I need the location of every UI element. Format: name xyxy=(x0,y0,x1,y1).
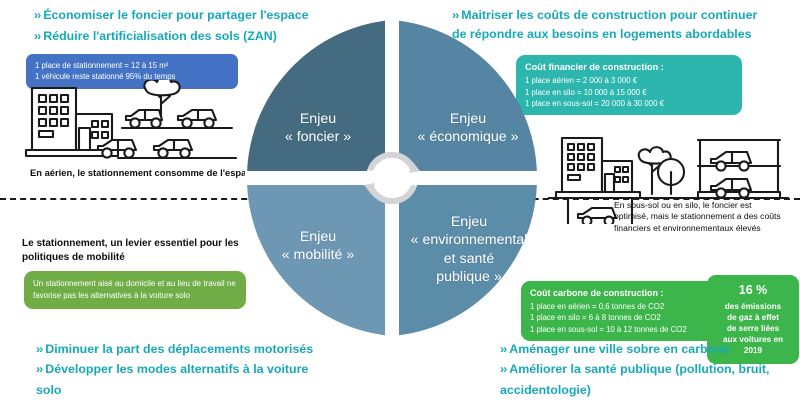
edge-watermark xyxy=(788,315,797,401)
quadrant-label-foncier: Enjeu « foncier » xyxy=(252,110,384,147)
callout-line-3: 1 place en sous-sol = 10 à 12 tonnes de … xyxy=(530,324,710,335)
callout-green-policy: Un stationnement aisé au domicile et au … xyxy=(24,271,246,309)
callout-line-1: 1 place de stationnement = 12 à 15 m² xyxy=(35,60,229,71)
emissions-percent-value: 16 % xyxy=(713,282,793,299)
quadrant-label-line-2: « économique » xyxy=(398,128,538,146)
chevron-double-right-icon: ›› xyxy=(500,342,506,356)
quadrant-economique xyxy=(392,20,537,178)
callout-line-2: 1 place en silo = 10 000 à 15 000 € xyxy=(525,87,733,98)
quadrant-label-line-1: Enjeu xyxy=(398,110,538,128)
quadrant-label-environnemental: Enjeu « environnemental et santé publiqu… xyxy=(396,213,542,287)
illustration-surface-parking xyxy=(18,80,246,166)
quadrant-label-line-1: Enjeu xyxy=(252,228,384,246)
callout-line-1: 1 place en aérien = 0,6 tonnes de CO2 xyxy=(530,301,710,312)
bullet-item-continuation: solo xyxy=(36,382,436,398)
caption-surface-parking: En aérien, le stationnement consomme de … xyxy=(30,167,260,180)
quadrant-label-line-2: « mobilité » xyxy=(252,246,384,264)
emissions-line-2: de gaz à effet xyxy=(713,312,793,323)
bullet-label: Aménager une ville sobre en carbone xyxy=(509,342,729,356)
bullet-item-continuation: accidentologie) xyxy=(500,382,800,398)
callout-line-2: 1 place en silo = 6 à 8 tonnes de CO2 xyxy=(530,312,710,323)
emissions-line-1: des émissions xyxy=(713,301,793,312)
callout-line-1: 1 place aérien = 2 000 à 3 000 € xyxy=(525,75,733,86)
chevron-double-right-icon: ›› xyxy=(36,362,42,376)
callout-title: Coût carbone de construction : xyxy=(530,287,710,300)
quadrant-label-line-3: et santé xyxy=(396,250,542,268)
bullet-label: Développer les modes alternatifs à la vo… xyxy=(45,362,308,376)
bullet-label: Réduire l'artificialisation des sols (ZA… xyxy=(43,29,277,43)
callout-title: Coût financier de construction : xyxy=(525,61,733,74)
four-quadrant-donut-diagram xyxy=(245,18,539,338)
caption-underground-parking: En sous-sol ou en silo, le foncier est o… xyxy=(614,200,786,234)
quadrant-label-line-4: publique » xyxy=(396,268,542,286)
callout-financial-cost: Coût financier de construction : 1 place… xyxy=(516,55,742,115)
quadrant-label-economique: Enjeu « économique » xyxy=(398,110,538,147)
quadrant-foncier xyxy=(247,20,392,178)
bottom-left-bullet-list: ››Diminuer la part des déplacements moto… xyxy=(36,341,436,402)
quadrant-label-mobilite: Enjeu « mobilité » xyxy=(252,228,384,265)
bullet-label: Améliorer la santé publique (pollution, … xyxy=(509,362,769,376)
quadrant-label-line-1: Enjeu xyxy=(252,110,384,128)
quadrant-label-line-2: « foncier » xyxy=(252,128,384,146)
bullet-label: accidentologie) xyxy=(500,383,591,397)
caption-mobility-lever: Le stationnement, un levier essentiel po… xyxy=(22,237,262,264)
chevron-double-right-icon: ›› xyxy=(500,362,506,376)
bullet-item: ››Diminuer la part des déplacements moto… xyxy=(36,341,436,357)
chevron-double-right-icon: ›› xyxy=(34,29,40,43)
chevron-double-right-icon: ›› xyxy=(34,8,40,22)
emissions-line-3: de serre liées xyxy=(713,323,793,334)
bullet-label: solo xyxy=(36,383,61,397)
chevron-double-right-icon: ›› xyxy=(36,342,42,356)
callout-line-3: 1 place en sous-sol = 20 000 à 30 000 € xyxy=(525,98,733,109)
bottom-right-bullet-list: ››Aménager une ville sobre en carbone ››… xyxy=(500,341,800,402)
bullet-label: Diminuer la part des déplacements motori… xyxy=(45,342,313,356)
bullet-item: ››Aménager une ville sobre en carbone xyxy=(500,341,800,357)
bullet-item: ››Améliorer la santé publique (pollution… xyxy=(500,361,800,377)
quadrant-label-line-1: Enjeu xyxy=(396,213,542,231)
callout-carbon-cost: Coût carbone de construction : 1 place e… xyxy=(521,281,719,341)
quadrant-label-line-2: « environnemental xyxy=(396,231,542,249)
bullet-item: ››Développer les modes alternatifs à la … xyxy=(36,361,436,377)
